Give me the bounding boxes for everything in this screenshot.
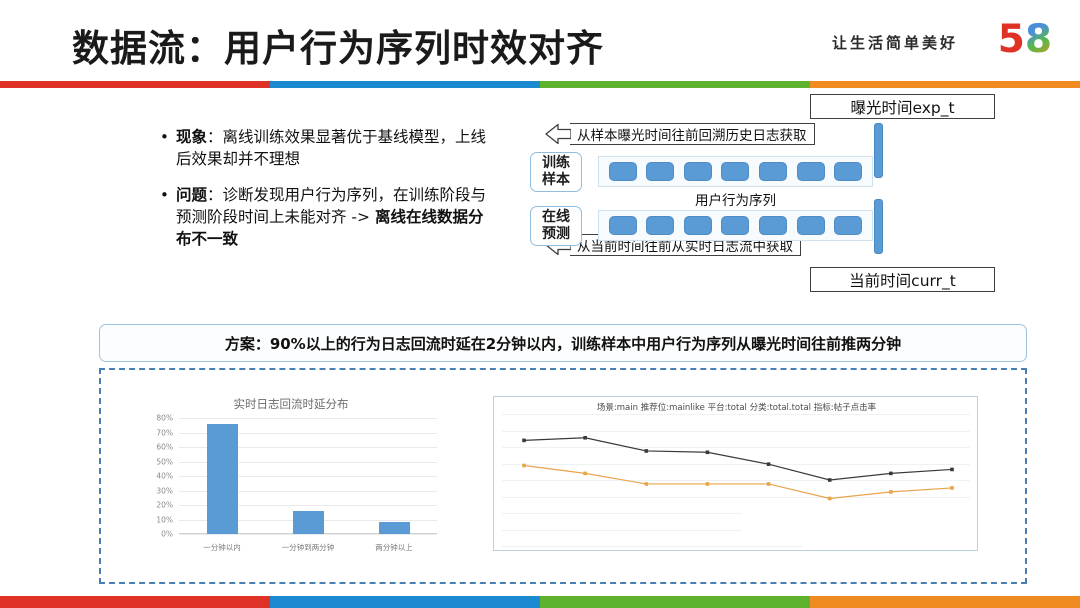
- train-sample-tag-line2: 样本: [542, 172, 570, 189]
- bar-chart-y-tick-label: 10%: [156, 515, 173, 524]
- bar-chart-x-tick-label: 两分钟以上: [375, 542, 413, 553]
- line-chart-data-point: [767, 482, 771, 486]
- sequence-cell: [834, 216, 862, 235]
- bar-chart-gridline: 80%: [179, 418, 437, 419]
- line-chart-gridline: [502, 546, 802, 547]
- solution-lead-text: 方案：90%以上的行为日志回流时延在2分钟以内，: [225, 333, 571, 354]
- sequence-cell: [797, 162, 825, 181]
- line-chart-data-point: [889, 490, 893, 494]
- line-chart-data-point: [889, 472, 893, 476]
- latency-bar-chart: 实时日志回流时延分布 0%10%20%30%40%50%60%70%80%一分钟…: [131, 382, 451, 572]
- online-predict-tag-line2: 预测: [542, 226, 570, 243]
- sequence-cell: [646, 162, 674, 181]
- sequence-cell: [609, 162, 637, 181]
- bar-chart-y-tick-label: 70%: [156, 428, 173, 437]
- line-chart-series-layer: [502, 414, 970, 546]
- sequence-cell: [834, 162, 862, 181]
- line-chart-data-point: [706, 482, 710, 486]
- bullet-list: • 现象：离线训练效果显著优于基线模型，上线后效果却并不理想 • 问题：诊断发现…: [160, 126, 490, 264]
- bar-chart-title: 实时日志回流时延分布: [131, 396, 451, 412]
- sequence-cell: [797, 216, 825, 235]
- bar-chart-bar: 一分钟以内: [207, 424, 238, 534]
- bar-chart-y-tick-label: 40%: [156, 472, 173, 481]
- line-chart-data-point: [644, 449, 648, 453]
- bar-chart-x-tick-label: 一分钟以内: [203, 542, 241, 553]
- line-chart-data-point: [767, 462, 771, 466]
- sequence-cell: [684, 162, 712, 181]
- rule-segment-red: [0, 81, 270, 88]
- train-sample-tag: 训练 样本: [530, 152, 582, 192]
- sequence-cell: [759, 216, 787, 235]
- bar-chart-y-tick-label: 30%: [156, 486, 173, 495]
- bar-chart-y-tick-label: 80%: [156, 414, 173, 423]
- solution-tail-text: 训练样本中用户行为序列从曝光时间往前推两分钟: [571, 333, 901, 354]
- line-chart-data-point: [828, 497, 832, 501]
- bullet-text-problem: 问题：诊断发现用户行为序列，在训练阶段与预测阶段时间上未能对齐 -> 离线在线数…: [176, 184, 490, 250]
- timeline-diagram: 曝光时间exp_t 当前时间curr_t 从样本曝光时间往前回溯历史日志获取 从…: [520, 94, 1040, 294]
- solution-banner: 方案：90%以上的行为日志回流时延在2分钟以内， 训练样本中用户行为序列从曝光时…: [99, 324, 1027, 362]
- line-chart-data-point: [950, 468, 954, 472]
- bar-chart-gridline: 0%: [179, 534, 437, 535]
- bar-chart-y-tick-label: 0%: [161, 530, 173, 539]
- line-chart-data-point: [644, 482, 648, 486]
- online-sequence-strip: [598, 210, 873, 241]
- footer-color-rule: [0, 596, 1080, 608]
- bullet-item-phenomenon: • 现象：离线训练效果显著优于基线模型，上线后效果却并不理想: [160, 126, 490, 170]
- logo-digit-5: 5: [998, 17, 1025, 62]
- train-lookback-arrow: 从样本曝光时间往前回溯历史日志获取: [545, 123, 815, 145]
- train-lookback-label: 从样本曝光时间往前回溯历史日志获取: [570, 123, 815, 145]
- sequence-cell: [646, 216, 674, 235]
- sequence-caption: 用户行为序列: [598, 189, 873, 209]
- sequence-cell: [721, 162, 749, 181]
- line-chart-data-point: [583, 436, 587, 440]
- rule-segment-green: [540, 596, 810, 608]
- rule-segment-blue: [270, 81, 540, 88]
- train-sequence-strip: [598, 156, 873, 187]
- line-chart-data-point: [522, 439, 526, 443]
- sequence-cell: [684, 216, 712, 235]
- line-chart-data-point: [522, 464, 526, 468]
- header-color-rule: [0, 81, 1080, 88]
- line-chart-data-point: [583, 472, 587, 476]
- online-predict-tag: 在线 预测: [530, 206, 582, 246]
- sequence-cell: [759, 162, 787, 181]
- bar-chart-bar: 两分钟以上: [379, 522, 410, 534]
- line-chart-data-point: [950, 486, 954, 490]
- rule-segment-blue: [270, 596, 540, 608]
- page-title: 数据流：用户行为序列时效对齐: [72, 18, 604, 72]
- bullet-item-problem: • 问题：诊断发现用户行为序列，在训练阶段与预测阶段时间上未能对齐 -> 离线在…: [160, 184, 490, 250]
- exposure-time-marker-bar: [874, 123, 883, 178]
- current-time-box: 当前时间curr_t: [810, 267, 995, 292]
- logo-digit-8: 8: [1025, 17, 1052, 62]
- bar-chart-bar: 一分钟到两分钟: [293, 511, 324, 534]
- bar-chart-x-tick-label: 一分钟到两分钟: [282, 542, 335, 553]
- line-chart-plot-area: [502, 414, 970, 546]
- bar-chart-y-tick-label: 60%: [156, 443, 173, 452]
- charts-dashed-panel: 实时日志回流时延分布 0%10%20%30%40%50%60%70%80%一分钟…: [99, 368, 1027, 584]
- arrow-left-icon: [545, 123, 571, 145]
- brand-slogan: 让生活简单美好: [832, 32, 958, 53]
- rule-segment-orange: [810, 596, 1080, 608]
- rule-segment-red: [0, 596, 270, 608]
- bullet-text-phenomenon: 现象：离线训练效果显著优于基线模型，上线后效果却并不理想: [176, 126, 490, 170]
- rule-segment-orange: [810, 81, 1080, 88]
- rule-segment-green: [540, 81, 810, 88]
- bar-chart-plot-area: 0%10%20%30%40%50%60%70%80%一分钟以内一分钟到两分钟两分…: [179, 418, 437, 534]
- line-chart-series-line: [524, 465, 952, 498]
- online-predict-tag-line1: 在线: [542, 209, 570, 226]
- bullet-marker-icon: •: [160, 126, 176, 170]
- sequence-cell: [721, 216, 749, 235]
- line-chart-title: 场景:main 推荐位:mainlike 平台:total 分类:total.t…: [494, 401, 979, 413]
- bar-chart-y-tick-label: 20%: [156, 501, 173, 510]
- bullet-marker-icon: •: [160, 184, 176, 250]
- line-chart-data-point: [828, 478, 832, 482]
- exposure-time-box: 曝光时间exp_t: [810, 94, 995, 119]
- sequence-cell: [609, 216, 637, 235]
- current-time-marker-bar: [874, 199, 883, 254]
- line-chart-data-point: [706, 450, 710, 454]
- ctr-line-chart: 场景:main 推荐位:mainlike 平台:total 分类:total.t…: [493, 396, 978, 551]
- slide-header: 数据流：用户行为序列时效对齐 让生活简单美好 58: [0, 0, 1080, 92]
- train-sample-tag-line1: 训练: [542, 155, 570, 172]
- brand-logo: 58: [998, 20, 1052, 60]
- bar-chart-y-tick-label: 50%: [156, 457, 173, 466]
